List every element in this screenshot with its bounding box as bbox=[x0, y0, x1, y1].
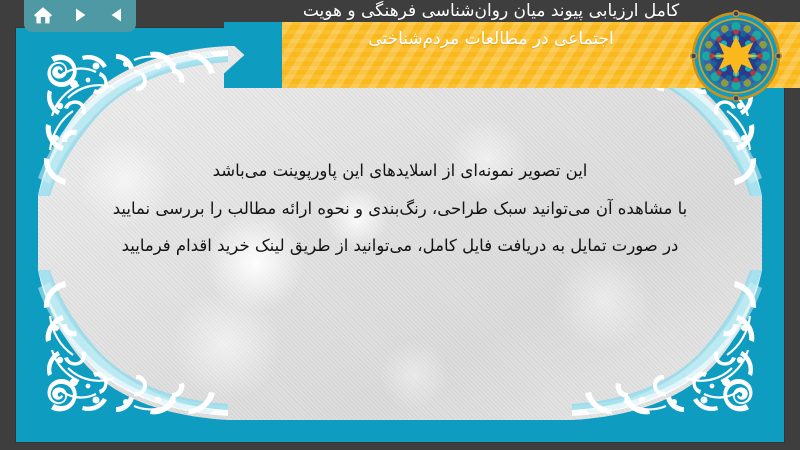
slide-viewer: این تصویر نمونه‌ای از اسلایدهای این پاور… bbox=[0, 0, 800, 450]
back-arrow-icon bbox=[108, 6, 126, 24]
body-line-1: این تصویر نمونه‌ای از اسلایدهای این پاور… bbox=[78, 152, 722, 190]
next-button[interactable] bbox=[66, 3, 94, 27]
ribbon-tail-shape bbox=[224, 22, 284, 88]
arabesque-corner-icon-bottom-left bbox=[38, 270, 228, 420]
title-ribbon: کامل ارزیابی پیوند میان روان‌شناسی فرهنگ… bbox=[224, 0, 800, 110]
persian-medallion-icon bbox=[690, 10, 782, 102]
arabesque-corner-icon-bottom-right bbox=[572, 270, 762, 420]
home-button[interactable] bbox=[29, 3, 57, 27]
page-title: کامل ارزیابی پیوند میان روان‌شناسی فرهنگ… bbox=[292, 0, 690, 53]
previous-button[interactable] bbox=[103, 3, 131, 27]
body-line-3: در صورت تمایل به دریافت فایل کامل، می‌تو… bbox=[78, 227, 722, 265]
home-icon bbox=[33, 6, 53, 25]
slide-body-text: این تصویر نمونه‌ای از اسلایدهای این پاور… bbox=[78, 152, 722, 265]
navigation-toolbar bbox=[24, 0, 136, 32]
body-line-2: با مشاهده آن می‌توانید سبک طراحی، رنگ‌بن… bbox=[78, 190, 722, 228]
forward-arrow-icon bbox=[71, 6, 89, 24]
